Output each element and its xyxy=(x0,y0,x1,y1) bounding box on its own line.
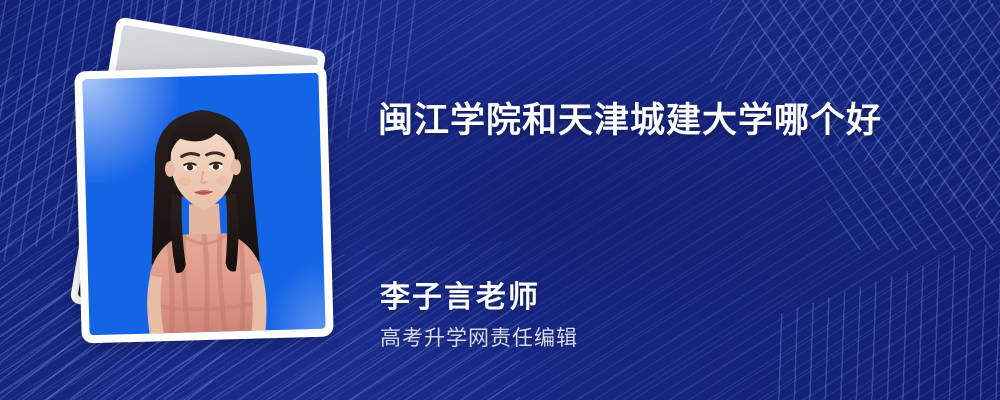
portrait-photo xyxy=(82,73,325,335)
portrait-photo-card xyxy=(74,65,333,344)
author-portrait-illustration xyxy=(82,73,325,335)
article-cover-banner: 闽江学院和天津城建大学哪个好 李子言老师 高考升学网责任编辑 xyxy=(0,0,1000,400)
text-area-vignette xyxy=(330,30,890,370)
article-title: 闽江学院和天津城建大学哪个好 xyxy=(378,100,958,142)
author-name: 李子言老师 xyxy=(380,272,540,316)
author-role: 高考升学网责任编辑 xyxy=(380,322,578,352)
photo-card-stack xyxy=(40,30,360,370)
